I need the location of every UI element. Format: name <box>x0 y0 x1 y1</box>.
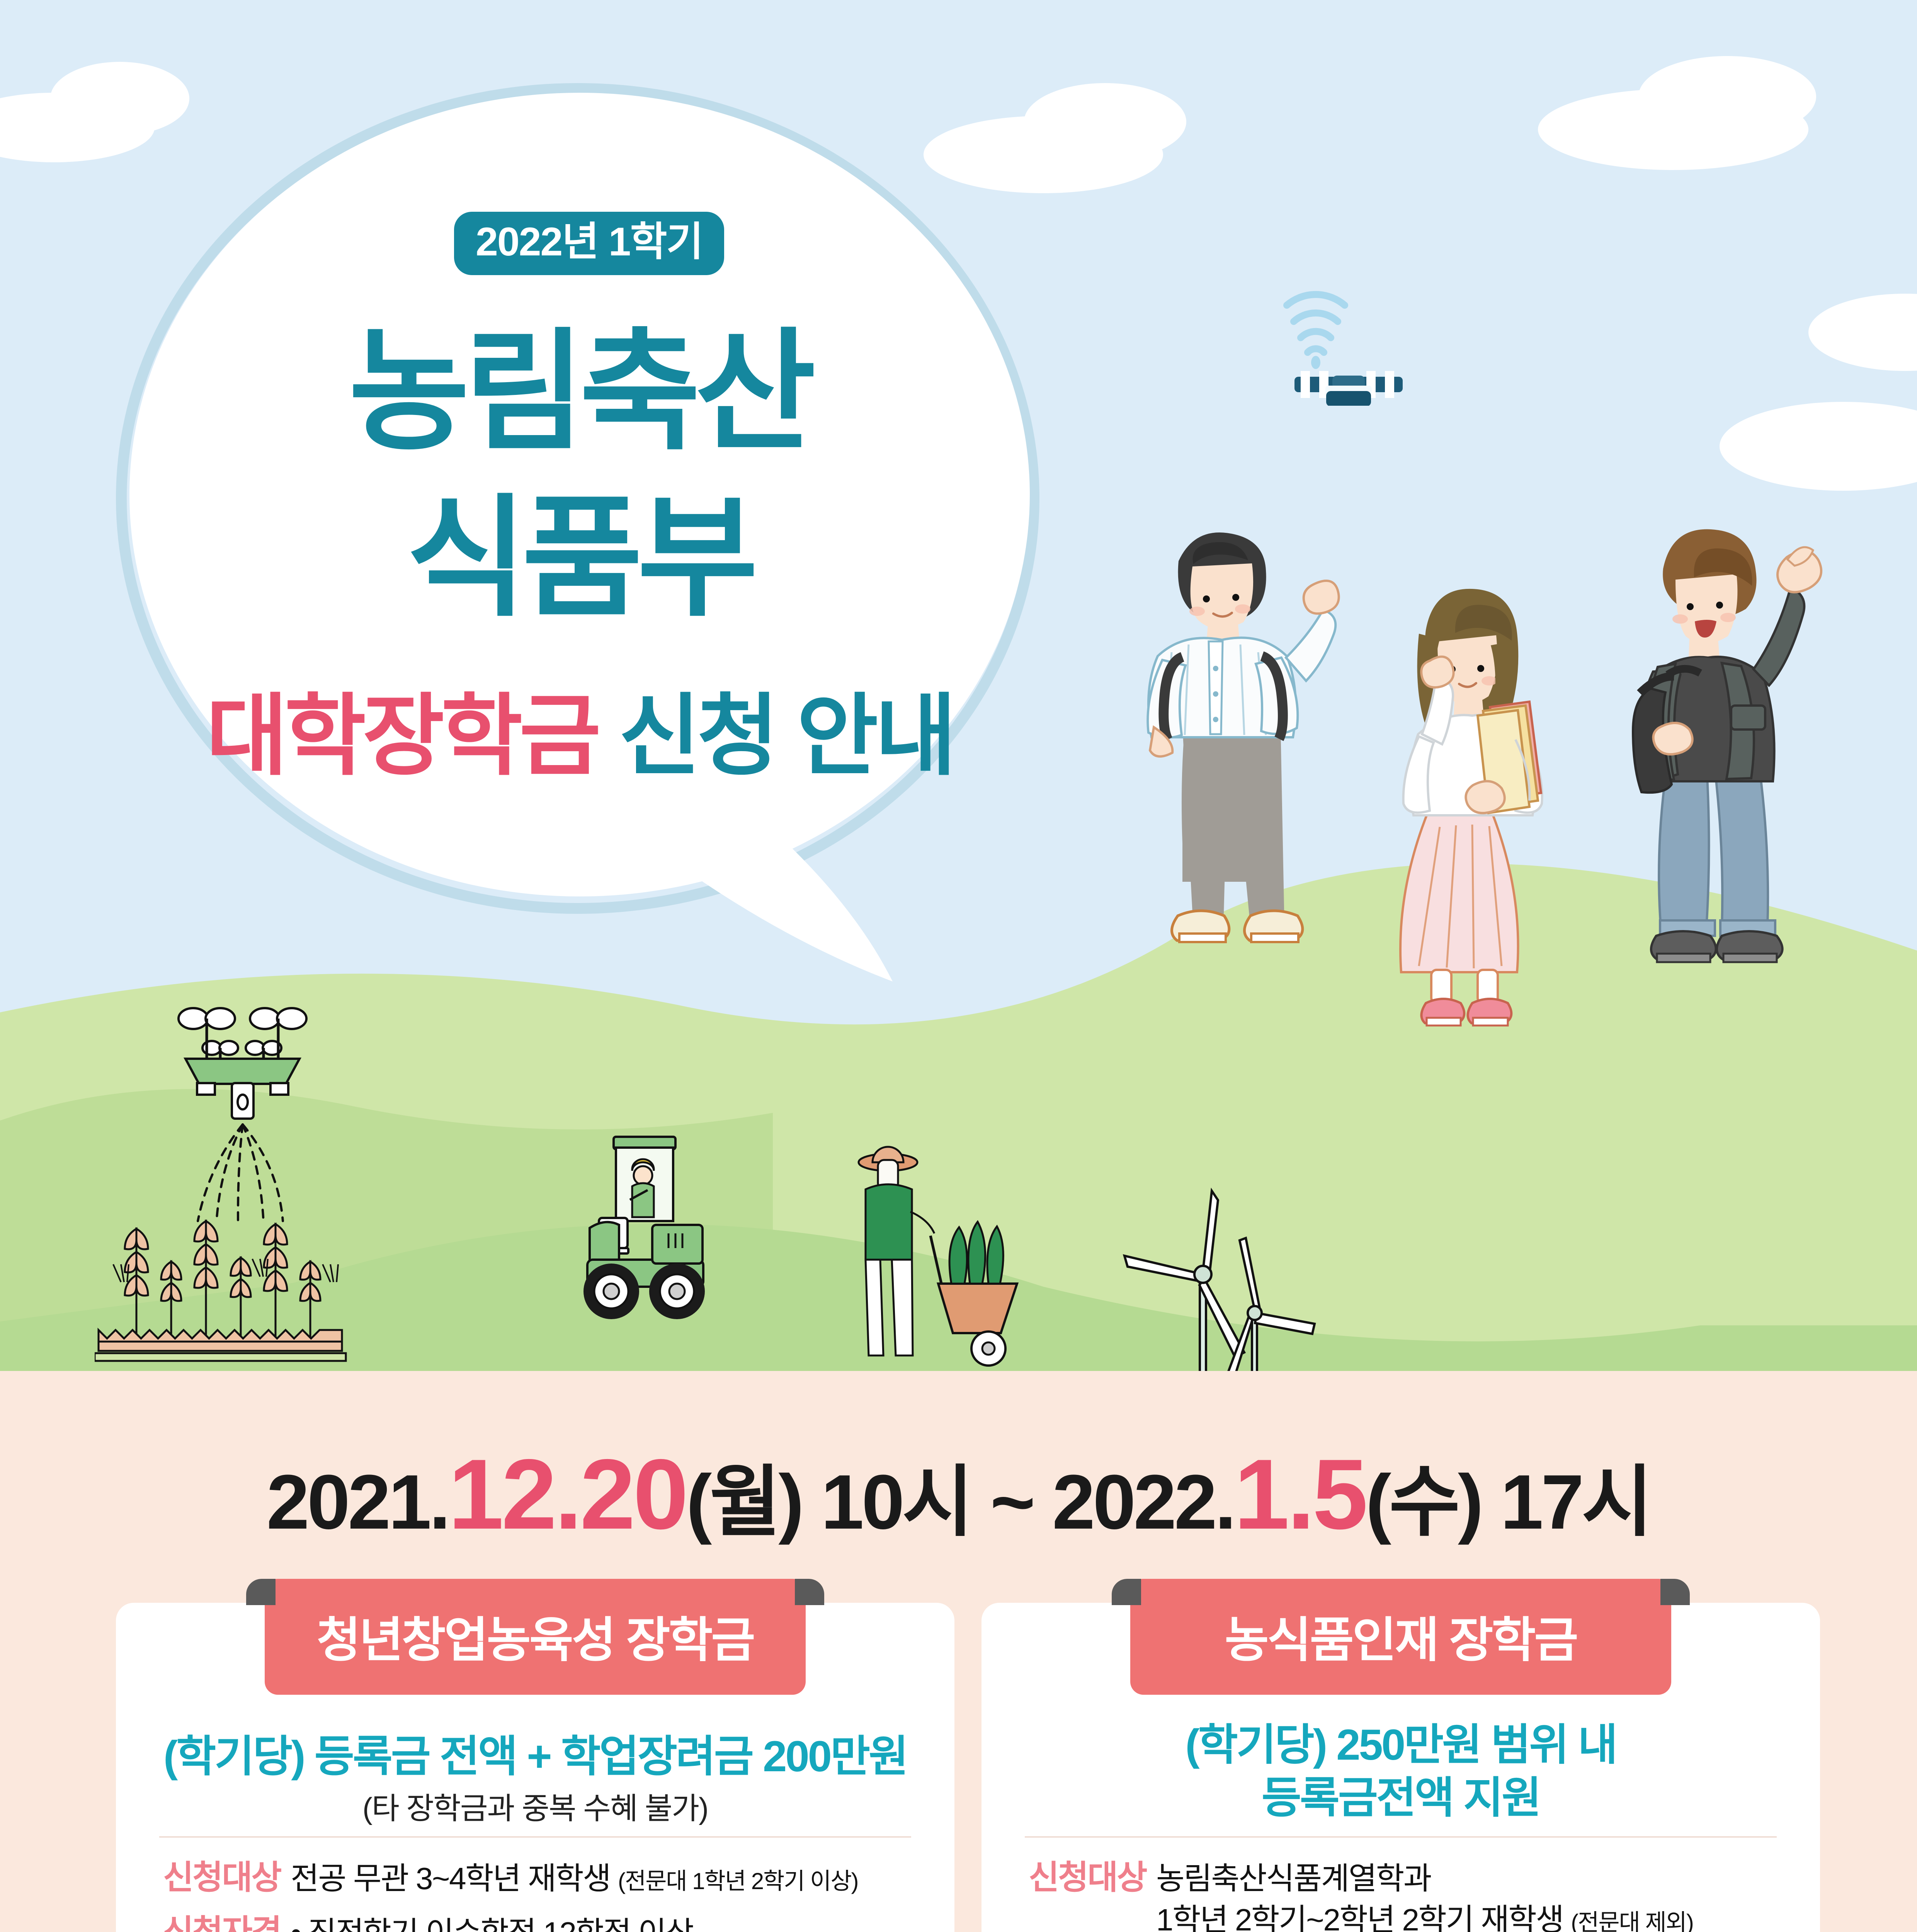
row-value: • 직전학기 이수학점 12학점 이상 • 성적 70점 이상인 만 40세 미… <box>291 1912 920 1932</box>
end-day: (수) 17시 <box>1366 1459 1650 1545</box>
farmer-cart-icon <box>842 1132 1059 1371</box>
card-divider <box>159 1836 911 1838</box>
ribbon-fold-right <box>1660 1579 1690 1605</box>
ribbon-fold-right <box>795 1579 824 1605</box>
card-ribbon-header: 농식품인재 장학금 <box>1130 1579 1671 1695</box>
students-illustration <box>1113 460 1917 1271</box>
card-divider <box>1025 1836 1777 1838</box>
card-title: 청년창업농육성 장학금 <box>316 1601 754 1670</box>
start-year: 2021. <box>267 1459 449 1545</box>
tractor-icon <box>553 1132 769 1349</box>
hero-illustration: 2022년 1학기 농림축산 식품부 대학장학금 신청 안내 <box>0 0 1917 1371</box>
scholarship-card-youth: 청년창업농육성 장학금 (학기당) 등록금 전액 + 학업장려금 200만원 (… <box>116 1603 954 1932</box>
row-value-small: (전문대 제외) <box>1571 1910 1693 1932</box>
row-value-main: 농림축산식품계열학과 1학년 2학기~2학년 2학기 재학생 <box>1156 1861 1571 1932</box>
student-middle <box>1400 589 1542 1026</box>
row-value: 전공 무관 3~4학년 재학생 (전문대 1학년 2학기 이상) <box>291 1858 920 1899</box>
card-note: (타 장학금과 중복 수혜 불가) <box>116 1784 954 1828</box>
card-amount: (학기당) 등록금 전액 + 학업장려금 200만원 <box>116 1730 954 1783</box>
ribbon-fold-left <box>246 1579 276 1605</box>
student-right <box>1633 529 1821 962</box>
start-day: (월) 10시 <box>686 1459 971 1545</box>
end-date: 1.5 <box>1234 1438 1366 1550</box>
application-period: 2021.12.20(월) 10시 ~ 2022.1.5(수) 17시 <box>0 1437 1917 1551</box>
title-line-2: 식품부 <box>137 493 1022 624</box>
student-left <box>1148 532 1339 942</box>
info-section: 2021.12.20(월) 10시 ~ 2022.1.5(수) 17시 청년창업… <box>0 1371 1917 1932</box>
card-ribbon-header: 청년창업농육성 장학금 <box>265 1579 806 1695</box>
cloud-icon <box>1638 56 1816 137</box>
subtitle-teal-part: 신청 안내 <box>597 686 953 786</box>
row-value: 농림축산식품계열학과 1학년 2학기~2학년 2학기 재학생 (전문대 제외) <box>1156 1858 1785 1932</box>
card-detail-rows: 신청대상 농림축산식품계열학과 1학년 2학기~2학년 2학기 재학생 (전문대… <box>1029 1858 1785 1932</box>
drone-icon <box>1267 240 1468 406</box>
title-line-1: 농림축산 <box>137 327 1022 458</box>
scholarship-card-talent: 농식품인재 장학금 (학기당) 250만원 범위 내 등록금전액 지원 신청대상… <box>981 1603 1820 1932</box>
ribbon-fold-left <box>1112 1579 1141 1605</box>
detail-row: 신청대상 농림축산식품계열학과 1학년 2학기~2학년 2학기 재학생 (전문대… <box>1029 1858 1785 1932</box>
wheat-field-icon <box>95 1163 450 1371</box>
page-subtitle: 대학장학금 신청 안내 <box>77 692 1082 781</box>
card-amount: (학기당) 250만원 범위 내 등록금전액 지원 <box>981 1719 1820 1824</box>
row-bullet: • 직전학기 이수학점 12학점 이상 <box>291 1912 920 1932</box>
detail-row: 신청대상 전공 무관 3~4학년 재학생 (전문대 1학년 2학기 이상) <box>163 1858 920 1899</box>
subtitle-pink-part: 대학장학금 <box>206 686 597 786</box>
end-year: 2022. <box>1052 1459 1234 1545</box>
row-label: 신청대상 <box>1029 1858 1156 1932</box>
row-label: 신청자격 <box>163 1912 291 1932</box>
row-label: 신청대상 <box>163 1858 291 1899</box>
semester-badge: 2022년 1학기 <box>454 212 724 275</box>
start-date: 12.20 <box>448 1438 686 1550</box>
card-detail-rows: 신청대상 전공 무관 3~4학년 재학생 (전문대 1학년 2학기 이상) 신청… <box>163 1858 920 1932</box>
detail-row: 신청자격 • 직전학기 이수학점 12학점 이상 • 성적 70점 이상인 만 … <box>163 1912 920 1932</box>
card-title: 농식품인재 장학금 <box>1225 1601 1577 1670</box>
period-tilde: ~ <box>971 1459 1052 1545</box>
row-value-small: (전문대 1학년 2학기 이상) <box>618 1868 858 1894</box>
row-value-main: 전공 무관 3~4학년 재학생 <box>291 1861 618 1896</box>
